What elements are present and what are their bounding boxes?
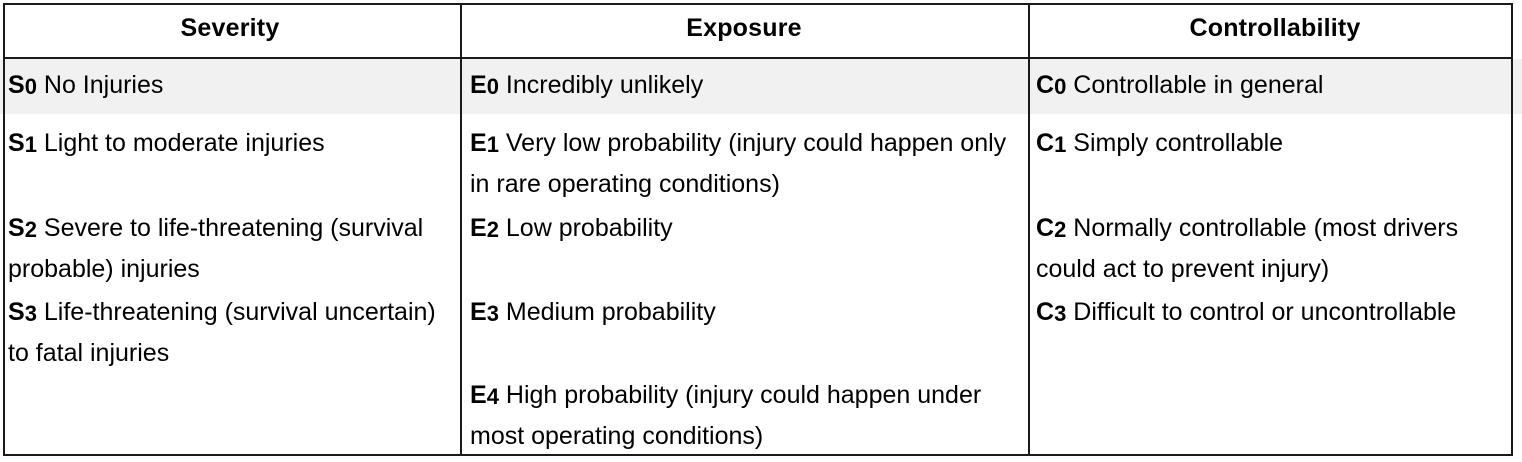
entry-description-c0: Controllable in general — [1073, 71, 1323, 99]
table-columns: Severity S0 No Injuries S1 Light to mode… — [0, 0, 1522, 461]
entry-description-e2: Low probability — [506, 214, 673, 242]
entry-description-s1: Light to moderate injuries — [44, 129, 325, 157]
asil-classification-table: Severity S0 No Injuries S1 Light to mode… — [0, 0, 1522, 461]
entry-s1: S1 Light to moderate injuries — [0, 123, 460, 164]
entry-description-s0: No Injuries — [44, 71, 164, 99]
entry-code-e3: E3 — [470, 298, 499, 326]
entry-code-e2: E2 — [470, 214, 499, 242]
entry-c3: C3 Difficult to control or uncontrollabl… — [1028, 292, 1522, 333]
entry-code-s3: S3 — [8, 298, 37, 326]
entry-description-e1: Very low probability (injury could happe… — [470, 129, 1013, 198]
entry-description-e4: High probability (injury could happen un… — [470, 381, 988, 450]
entry-e0: E0 Incredibly unlikely — [460, 65, 1028, 106]
header-separator-rule — [3, 57, 1513, 59]
entry-description-c3: Difficult to control or uncontrollable — [1073, 298, 1456, 326]
entry-s2: S2 Severe to life-threatening (survival … — [0, 208, 460, 290]
column-controllability: Controllability C0 Controllable in gener… — [1028, 0, 1522, 461]
entry-description-c2: Normally controllable (most drivers coul… — [1036, 214, 1465, 283]
entry-code-c3: C3 — [1036, 298, 1066, 326]
entry-code-e4: E4 — [470, 381, 499, 409]
entry-description-s2: Severe to life-threatening (survival pro… — [8, 214, 430, 283]
column-body-severity: S0 No Injuries S1 Light to moderate inju… — [0, 57, 460, 462]
entry-c1: C1 Simply controllable — [1028, 123, 1522, 164]
entry-code-s0: S0 — [8, 71, 37, 99]
entry-s3: S3 Life-threatening (survival uncertain)… — [0, 292, 460, 374]
entry-code-c1: C1 — [1036, 129, 1066, 157]
column-divider-exposure-controllability — [1028, 3, 1030, 456]
column-header-exposure: Exposure — [460, 0, 1028, 57]
entry-description-s3: Life-threatening (survival uncertain) to… — [8, 298, 443, 367]
entry-c2: C2 Normally controllable (most drivers c… — [1028, 208, 1522, 290]
entry-e2: E2 Low probability — [460, 208, 1028, 249]
column-body-controllability: C0 Controllable in general C1 Simply con… — [1028, 57, 1522, 462]
entry-code-c0: C0 — [1036, 71, 1066, 99]
entry-e3: E3 Medium probability — [460, 292, 1028, 333]
entry-description-c1: Simply controllable — [1073, 129, 1283, 157]
column-header-controllability: Controllability — [1028, 0, 1522, 57]
entry-e4: E4 High probability (injury could happen… — [460, 375, 1028, 457]
entry-code-e0: E0 — [470, 71, 499, 99]
entry-code-s1: S1 — [8, 129, 37, 157]
column-exposure: Exposure E0 Incredibly unlikely E1 Very … — [460, 0, 1028, 461]
entry-e1: E1 Very low probability (injury could ha… — [460, 123, 1028, 205]
column-header-severity: Severity — [0, 0, 460, 57]
column-severity: Severity S0 No Injuries S1 Light to mode… — [0, 0, 460, 461]
entry-code-c2: C2 — [1036, 214, 1066, 242]
entry-c0: C0 Controllable in general — [1028, 65, 1522, 106]
entry-description-e0: Incredibly unlikely — [506, 71, 703, 99]
entry-code-s2: S2 — [8, 214, 37, 242]
entry-description-e3: Medium probability — [506, 298, 716, 326]
column-divider-severity-exposure — [460, 3, 462, 456]
entry-code-e1: E1 — [470, 129, 499, 157]
entry-s0: S0 No Injuries — [0, 65, 460, 106]
column-body-exposure: E0 Incredibly unlikely E1 Very low proba… — [460, 57, 1028, 462]
